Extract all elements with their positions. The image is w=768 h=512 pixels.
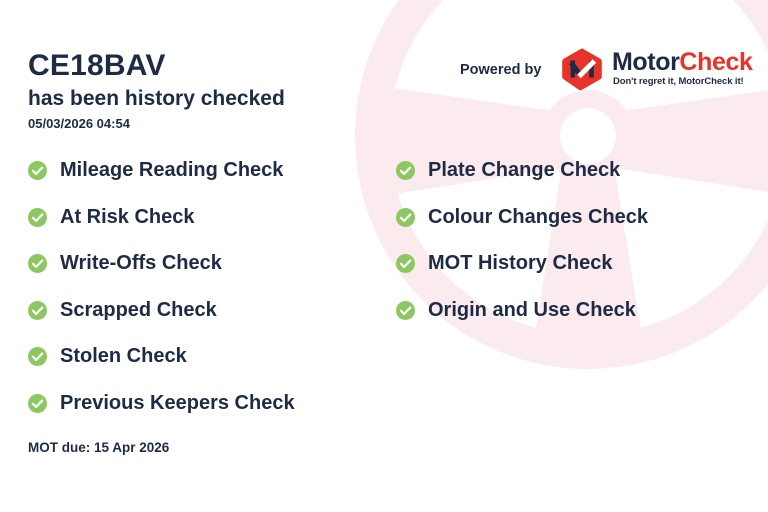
powered-by-label: Powered by [460,61,541,79]
check-list-item: Previous Keepers Check [28,391,295,438]
vehicle-history-check-card: CE18BAV has been history checked 05/03/2… [0,0,768,512]
check-circle-icon [28,254,47,273]
check-label: At Risk Check [60,205,195,230]
check-label: Scrapped Check [60,298,217,323]
checks-right-column: Plate Change Check Colour Changes Check … [396,158,648,344]
check-circle-icon [396,161,415,180]
checks-left-column: Mileage Reading Check At Risk Check Writ… [28,158,295,437]
check-circle-icon [396,301,415,320]
check-list-item: Stolen Check [28,344,295,391]
check-label: Mileage Reading Check [60,158,283,183]
check-label: Colour Changes Check [428,205,648,230]
check-label: Origin and Use Check [428,298,636,323]
motorcheck-hexagon-icon [560,47,604,91]
check-list-item: Colour Changes Check [396,205,648,252]
check-list-item: Origin and Use Check [396,298,648,345]
headline-text: has been history checked [28,87,285,111]
brand-word-check: Check [679,48,752,76]
check-circle-icon [28,208,47,227]
registration-plate: CE18BAV [28,50,166,82]
check-list-item: Scrapped Check [28,298,295,345]
mot-due-text: MOT due: 15 Apr 2026 [28,439,169,456]
check-circle-icon [28,347,47,366]
check-timestamp: 05/03/2026 04:54 [28,116,130,132]
check-label: Stolen Check [60,344,187,369]
check-list-item: Write-Offs Check [28,251,295,298]
motorcheck-logo[interactable]: MotorCheck Don't regret it, MotorCheck i… [560,46,760,92]
check-list-item: At Risk Check [28,205,295,252]
brand-wordmark: MotorCheck [612,49,752,76]
check-circle-icon [28,301,47,320]
check-label: Write-Offs Check [60,251,222,276]
check-circle-icon [396,254,415,273]
brand-word-motor: Motor [612,48,679,76]
check-list-item: Plate Change Check [396,158,648,205]
check-circle-icon [28,161,47,180]
brand-tagline: Don't regret it, MotorCheck it! [613,76,744,87]
check-label: Plate Change Check [428,158,620,183]
check-list-item: Mileage Reading Check [28,158,295,205]
check-label: Previous Keepers Check [60,391,295,416]
check-circle-icon [396,208,415,227]
check-circle-icon [28,394,47,413]
check-list-item: MOT History Check [396,251,648,298]
check-label: MOT History Check [428,251,612,276]
